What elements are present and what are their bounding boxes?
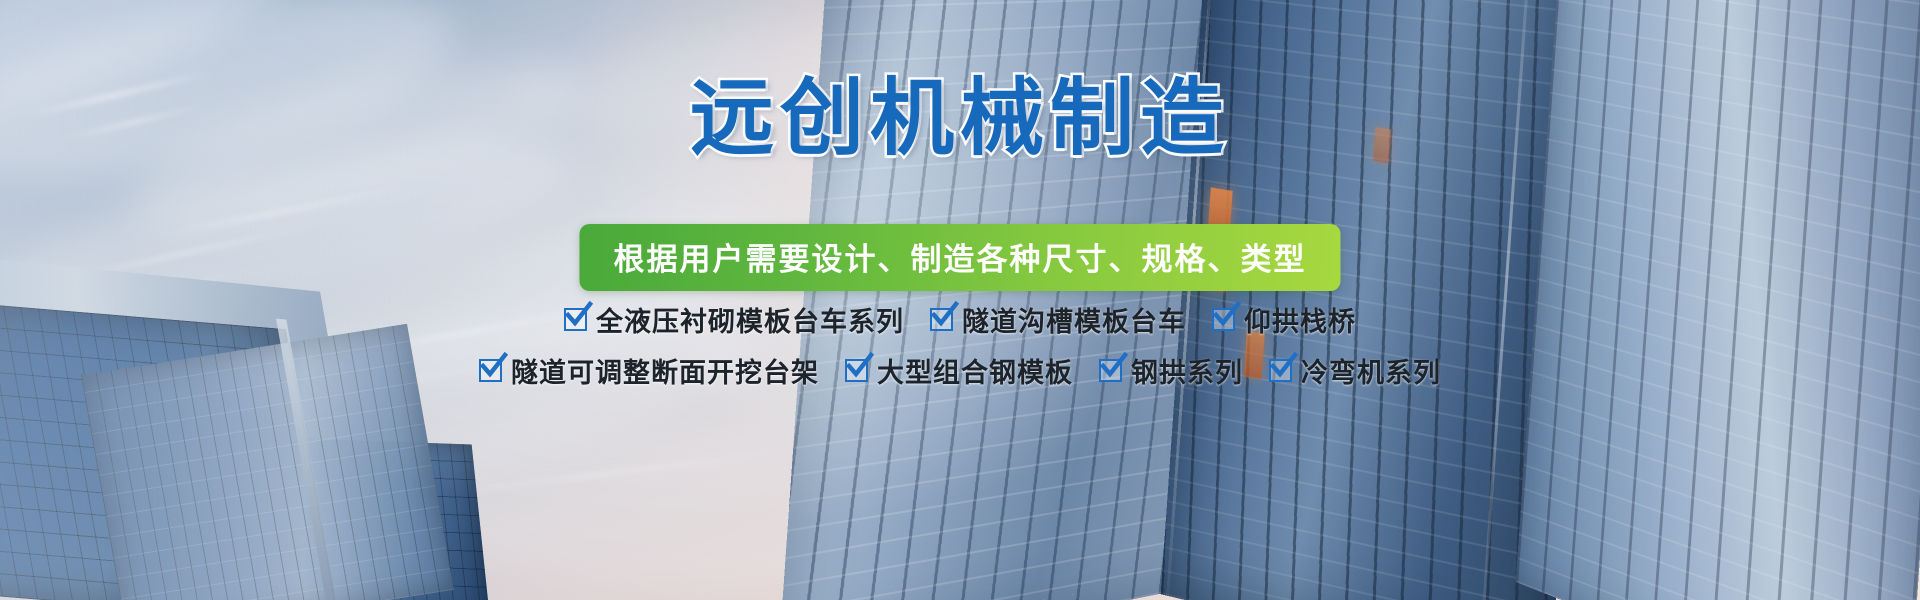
feature-item[interactable]: 钢拱系列 (1099, 351, 1243, 390)
feature-item[interactable]: 隧道可调整断面开挖台架 (479, 351, 819, 390)
feature-list: 全液压衬砌模板台车系列 隧道沟槽模板台车 仰拱栈桥 (0, 300, 1920, 402)
checkbox-checked-icon (479, 359, 502, 382)
checkbox-checked-icon (1212, 308, 1235, 331)
feature-item[interactable]: 大型组合钢模板 (845, 351, 1073, 390)
feature-row: 全液压衬砌模板台车系列 隧道沟槽模板台车 仰拱栈桥 (0, 300, 1920, 339)
feature-label: 隧道可调整断面开挖台架 (511, 351, 819, 390)
checkbox-checked-icon (1099, 359, 1122, 382)
banner-title: 远创机械制造 (0, 76, 1920, 160)
feature-item[interactable]: 全液压衬砌模板台车系列 (564, 300, 904, 339)
feature-item[interactable]: 隧道沟槽模板台车 (930, 300, 1186, 339)
banner-content: 远创机械制造 根据用户需要设计、制造各种尺寸、规格、类型 全液压衬砌模板台车系列… (0, 0, 1920, 600)
feature-label: 隧道沟槽模板台车 (962, 300, 1186, 339)
banner-subtitle-ribbon: 根据用户需要设计、制造各种尺寸、规格、类型 (580, 224, 1341, 291)
feature-item[interactable]: 仰拱栈桥 (1212, 300, 1356, 339)
feature-label: 仰拱栈桥 (1244, 300, 1356, 339)
checkbox-checked-icon (1269, 359, 1292, 382)
feature-label: 全液压衬砌模板台车系列 (596, 300, 904, 339)
feature-item[interactable]: 冷弯机系列 (1269, 351, 1441, 390)
checkbox-checked-icon (564, 308, 587, 331)
feature-label: 钢拱系列 (1131, 351, 1243, 390)
feature-row: 隧道可调整断面开挖台架 大型组合钢模板 钢拱系列 (0, 351, 1920, 390)
feature-label: 大型组合钢模板 (877, 351, 1073, 390)
feature-label: 冷弯机系列 (1301, 351, 1441, 390)
checkbox-checked-icon (930, 308, 953, 331)
checkbox-checked-icon (845, 359, 868, 382)
hero-banner: 远创机械制造 根据用户需要设计、制造各种尺寸、规格、类型 全液压衬砌模板台车系列… (0, 0, 1920, 600)
